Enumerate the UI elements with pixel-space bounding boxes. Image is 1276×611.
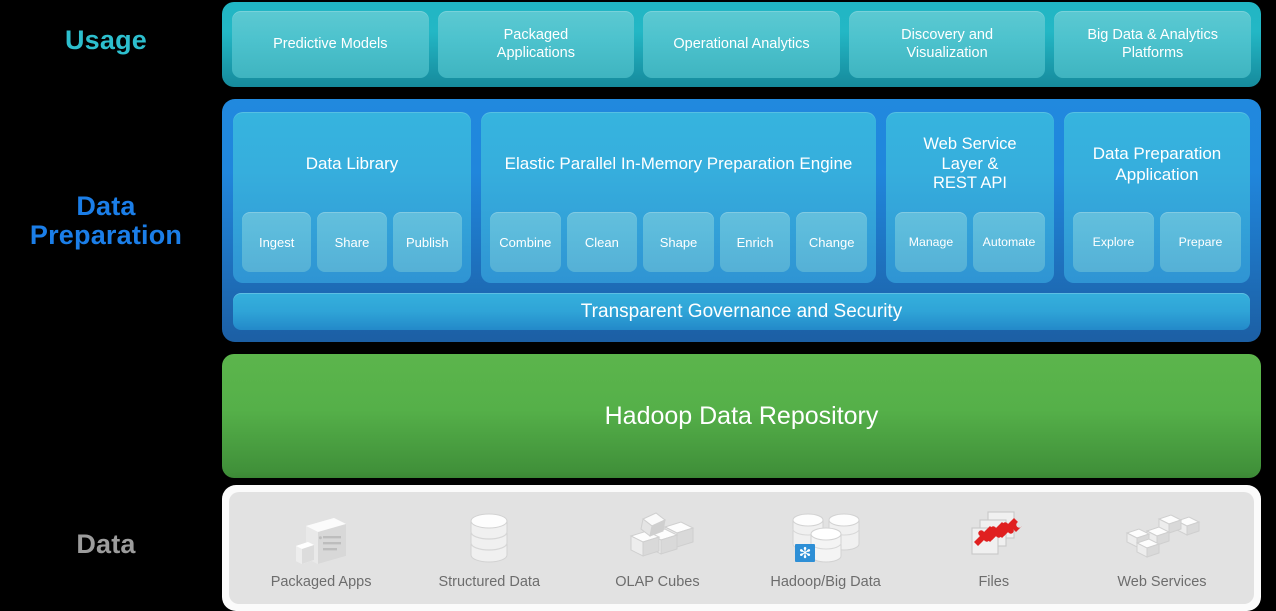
prep-group-elastic-parallel-in-memory-preparation-engine[interactable]: Elastic Parallel In-Memory Preparation E… <box>481 112 876 283</box>
prep-group-data-library[interactable]: Data Library Ingest Share Publish <box>233 112 471 283</box>
prep-chip-label: Publish <box>406 235 449 250</box>
prep-chip-label: Ingest <box>259 235 294 250</box>
data-source-web-services[interactable]: Web Services <box>1078 496 1246 598</box>
hadoop-data-repository-title: Hadoop Data Repository <box>605 402 879 431</box>
usage-card-label: Packaged Applications <box>497 27 575 62</box>
data-source-packaged-apps[interactable]: Packaged Apps <box>237 496 405 598</box>
usage-card-operational-analytics[interactable]: Operational Analytics <box>643 11 840 78</box>
prep-chip-enrich[interactable]: Enrich <box>720 212 791 272</box>
prep-chip-change[interactable]: Change <box>796 212 867 272</box>
data-source-files[interactable]: Files <box>910 496 1078 598</box>
prep-group-title-line1: Web Service <box>923 135 1016 155</box>
svg-text:✻: ✻ <box>798 545 811 562</box>
architecture-diagram: Usage Data Preparation Data Predictive M… <box>0 0 1276 611</box>
usage-card-label: Discovery and Visualization <box>901 27 993 62</box>
usage-card-label-line1: Packaged <box>504 27 569 43</box>
data-source-label: Structured Data <box>438 574 540 590</box>
prep-chip-combine[interactable]: Combine <box>490 212 561 272</box>
connected-cubes-icon <box>1118 506 1206 568</box>
usage-card-label-line1: Discovery and <box>901 27 993 43</box>
prep-group-title-line2: Application <box>1093 165 1222 185</box>
data-sources-inner-panel: Packaged Apps Structured Data <box>229 492 1254 604</box>
section-label-data-preparation-line1: Data <box>0 192 212 221</box>
prep-group-title: Data Preparation Application <box>1073 121 1241 212</box>
prep-chip-prepare[interactable]: Prepare <box>1160 212 1241 272</box>
section-label-data: Data <box>0 530 212 559</box>
transparent-governance-and-security-bar[interactable]: Transparent Governance and Security <box>233 293 1250 330</box>
prep-group-chips: Ingest Share Publish <box>242 212 462 272</box>
puzzle-pieces-icon <box>950 506 1038 568</box>
section-label-usage: Usage <box>0 26 212 55</box>
usage-card-label: Big Data & Analytics Platforms <box>1087 27 1218 62</box>
data-sources-band: Packaged Apps Structured Data <box>222 485 1261 611</box>
prep-chip-label: Prepare <box>1179 235 1223 249</box>
prep-chip-manage[interactable]: Manage <box>895 212 967 272</box>
hadoop-data-repository-band[interactable]: Hadoop Data Repository <box>222 354 1261 478</box>
prep-chip-label: Shape <box>660 235 698 250</box>
usage-card-discovery-and-visualization[interactable]: Discovery and Visualization <box>849 11 1046 78</box>
prep-chip-label: Automate <box>983 235 1036 249</box>
database-stack-star-icon: ✻ <box>782 506 870 568</box>
prep-chip-ingest[interactable]: Ingest <box>242 212 311 272</box>
governance-bar-label: Transparent Governance and Security <box>581 301 902 323</box>
section-label-data-preparation-line2: Preparation <box>0 221 212 250</box>
prep-chip-label: Change <box>809 235 855 250</box>
prep-chip-explore[interactable]: Explore <box>1073 212 1154 272</box>
prep-group-title: Data Library <box>242 121 462 212</box>
usage-card-predictive-models[interactable]: Predictive Models <box>232 11 429 78</box>
usage-card-label-line2: Visualization <box>907 45 988 61</box>
cubes-icon <box>613 506 701 568</box>
data-preparation-band: Data Library Ingest Share Publish Elasti… <box>222 99 1261 342</box>
prep-chip-automate[interactable]: Automate <box>973 212 1045 272</box>
prep-chip-label: Enrich <box>737 235 774 250</box>
prep-group-chips: Explore Prepare <box>1073 212 1241 272</box>
prep-chip-publish[interactable]: Publish <box>393 212 462 272</box>
usage-card-big-data-analytics-platforms[interactable]: Big Data & Analytics Platforms <box>1054 11 1251 78</box>
section-label-data-preparation: Data Preparation <box>0 192 212 250</box>
prep-group-title: Elastic Parallel In-Memory Preparation E… <box>490 121 867 212</box>
data-source-label: OLAP Cubes <box>615 574 699 590</box>
data-source-hadoop-big-data[interactable]: ✻ Hadoop/Big Data <box>742 496 910 598</box>
prep-chip-shape[interactable]: Shape <box>643 212 714 272</box>
data-source-structured-data[interactable]: Structured Data <box>405 496 573 598</box>
usage-card-label: Operational Analytics <box>673 36 809 54</box>
server-box-icon <box>277 506 365 568</box>
prep-chip-label: Clean <box>585 235 619 250</box>
usage-card-label: Predictive Models <box>273 36 387 54</box>
prep-group-title-line3: REST API <box>923 174 1016 194</box>
data-source-label: Packaged Apps <box>271 574 372 590</box>
prep-chip-label: Combine <box>499 235 551 250</box>
prep-chip-label: Share <box>335 235 370 250</box>
prep-group-chips: Combine Clean Shape Enrich Change <box>490 212 867 272</box>
usage-card-label-line1: Big Data & Analytics <box>1087 27 1218 43</box>
prep-group-title-line1: Data Preparation <box>1093 144 1222 164</box>
database-cylinder-icon <box>445 506 533 568</box>
prep-group-title-line2: Layer & <box>923 155 1016 175</box>
data-source-label: Web Services <box>1117 574 1206 590</box>
data-source-label: Hadoop/Big Data <box>770 574 880 590</box>
usage-card-label-line2: Platforms <box>1122 45 1183 61</box>
usage-card-label-line2: Applications <box>497 45 575 61</box>
usage-band: Predictive Models Packaged Applications … <box>222 2 1261 87</box>
prep-group-chips: Manage Automate <box>895 212 1045 272</box>
prep-chip-share[interactable]: Share <box>317 212 386 272</box>
prep-group-title: Web Service Layer & REST API <box>895 121 1045 212</box>
data-preparation-groups-row: Data Library Ingest Share Publish Elasti… <box>233 112 1250 283</box>
prep-group-data-preparation-application[interactable]: Data Preparation Application Explore Pre… <box>1064 112 1250 283</box>
prep-chip-clean[interactable]: Clean <box>567 212 638 272</box>
data-source-label: Files <box>978 574 1009 590</box>
data-source-olap-cubes[interactable]: OLAP Cubes <box>573 496 741 598</box>
prep-chip-label: Manage <box>909 235 953 249</box>
prep-group-web-service-layer-rest-api[interactable]: Web Service Layer & REST API Manage Auto… <box>886 112 1054 283</box>
prep-chip-label: Explore <box>1093 235 1135 249</box>
usage-card-packaged-applications[interactable]: Packaged Applications <box>438 11 635 78</box>
